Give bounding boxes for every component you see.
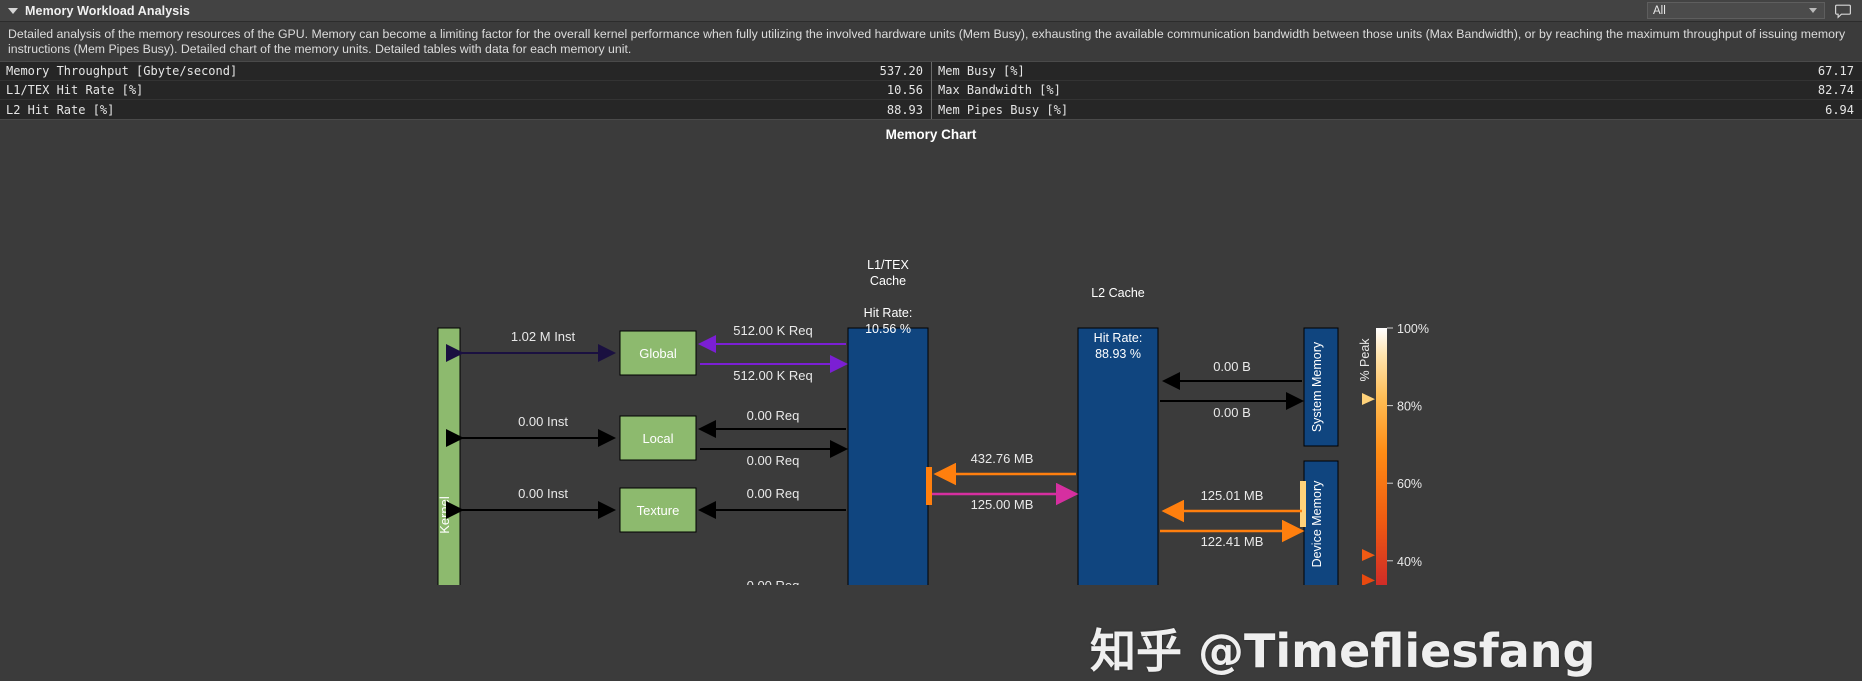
table-row[interactable]: L1/TEX Hit Rate [%] 10.56 (0, 81, 931, 100)
colorbar-tick-label-80: 80% (1397, 400, 1422, 414)
label-global-req-in: 512.00 K Req (733, 323, 813, 338)
table-row[interactable]: Memory Throughput [Gbyte/second] 537.20 (0, 62, 931, 81)
label-l1-l2-down: 125.00 MB (971, 497, 1034, 512)
metrics-column-right: Mem Busy [%] 67.17 Max Bandwidth [%] 82.… (931, 62, 1862, 119)
label-local-req-out: 0.00 Req (747, 453, 800, 468)
section-description: Detailed analysis of the memory resource… (0, 22, 1862, 61)
metric-label: Mem Pipes Busy [%] (938, 103, 1068, 117)
unit-label-texture: Texture (637, 503, 680, 518)
label-texture-inst: 0.00 Inst (518, 486, 568, 501)
metric-label: Max Bandwidth [%] (938, 83, 1061, 97)
chart-title: Memory Chart (0, 120, 1862, 145)
colorbar-marker-device-a (1362, 549, 1375, 561)
colorbar-tick-label-60: 60% (1397, 477, 1422, 491)
l1tex-hit-rate-value: 10.56 % (865, 322, 911, 336)
watermark-text: 知乎 @Timefliesfang (1090, 615, 1595, 681)
l1tex-cache-label-line1: L1/TEX (867, 258, 909, 272)
colorbar-gradient (1376, 328, 1387, 585)
unit-label-global: Global (639, 346, 677, 361)
metric-value: 67.17 (1818, 64, 1854, 78)
metrics-table: Memory Throughput [Gbyte/second] 537.20 … (0, 61, 1862, 120)
l2-hit-rate-label: Hit Rate: (1094, 331, 1143, 345)
speech-bubble-icon[interactable] (1834, 2, 1852, 20)
label-devmem-in: 125.01 MB (1201, 488, 1264, 503)
kernel-bar-label: Kernel (437, 496, 452, 534)
unit-label-local: Local (642, 431, 673, 446)
label-texture-req-in: 0.00 Req (747, 486, 800, 501)
metric-label: Mem Busy [%] (938, 64, 1025, 78)
chevron-down-icon (1809, 8, 1817, 13)
l2-cache-box[interactable] (1078, 328, 1158, 585)
label-sysmem-in: 0.00 B (1213, 359, 1251, 374)
l1tex-cache-label-line2: Cache (870, 274, 906, 288)
memory-chart: Kernel L1/TEX Cache Hit Rate: 10.56 % L2… (0, 145, 1862, 585)
kernel-bar[interactable] (438, 328, 460, 585)
colorbar-tick-label-100: 100% (1397, 322, 1429, 336)
device-memory-label: Device Memory (1310, 480, 1324, 568)
label-devmem-out: 122.41 MB (1201, 534, 1264, 549)
metric-value: 6.94 (1825, 103, 1854, 117)
l2-cache-label: L2 Cache (1091, 286, 1145, 300)
title-bar-right-controls: All (1647, 2, 1856, 20)
table-row[interactable]: L2 Hit Rate [%] 88.93 (0, 100, 931, 119)
l1tex-cache-box[interactable] (848, 328, 928, 585)
metric-label: L1/TEX Hit Rate [%] (6, 83, 143, 97)
collapse-triangle-icon[interactable] (8, 8, 18, 14)
metrics-column-left: Memory Throughput [Gbyte/second] 537.20 … (0, 62, 931, 119)
label-local-inst: 0.00 Inst (518, 414, 568, 429)
label-sysmem-out: 0.00 B (1213, 405, 1251, 420)
label-l1-l2-up: 432.76 MB (971, 451, 1034, 466)
colorbar-marker-device-b (1362, 574, 1375, 585)
colorbar-axis-label: % Peak (1358, 338, 1372, 382)
l1tex-hit-rate-label: Hit Rate: (864, 306, 913, 320)
metric-label: L2 Hit Rate [%] (6, 103, 114, 117)
metric-label: Memory Throughput [Gbyte/second] (6, 64, 237, 78)
colorbar-tick-label-40: 40% (1397, 555, 1422, 569)
colorbar-marker-max-bandwidth (1362, 393, 1375, 405)
l2-hit-rate-value: 88.93 % (1095, 347, 1141, 361)
metric-value: 537.20 (880, 64, 923, 78)
table-row[interactable]: Mem Busy [%] 67.17 (932, 62, 1862, 81)
metric-value: 10.56 (887, 83, 923, 97)
memory-chart-svg: Kernel L1/TEX Cache Hit Rate: 10.56 % L2… (0, 145, 1862, 585)
l1-l2-link-accent (926, 467, 932, 505)
table-row[interactable]: Mem Pipes Busy [%] 6.94 (932, 100, 1862, 119)
filter-select-value: All (1653, 5, 1666, 17)
metric-value: 88.93 (887, 103, 923, 117)
label-surface-inst: 0.00 Inst (518, 584, 568, 585)
label-surface-req-in: 0.00 Req (747, 578, 800, 585)
section-title-bar[interactable]: Memory Workload Analysis All (0, 0, 1862, 22)
system-memory-label: System Memory (1310, 341, 1324, 432)
table-row[interactable]: Max Bandwidth [%] 82.74 (932, 81, 1862, 100)
device-memory-accent-bar (1300, 481, 1306, 527)
filter-select[interactable]: All (1647, 2, 1825, 19)
label-local-req-in: 0.00 Req (747, 408, 800, 423)
page-title: Memory Workload Analysis (25, 4, 190, 18)
label-global-req-out: 512.00 K Req (733, 368, 813, 383)
label-global-inst: 1.02 M Inst (511, 329, 576, 344)
metric-value: 82.74 (1818, 83, 1854, 97)
